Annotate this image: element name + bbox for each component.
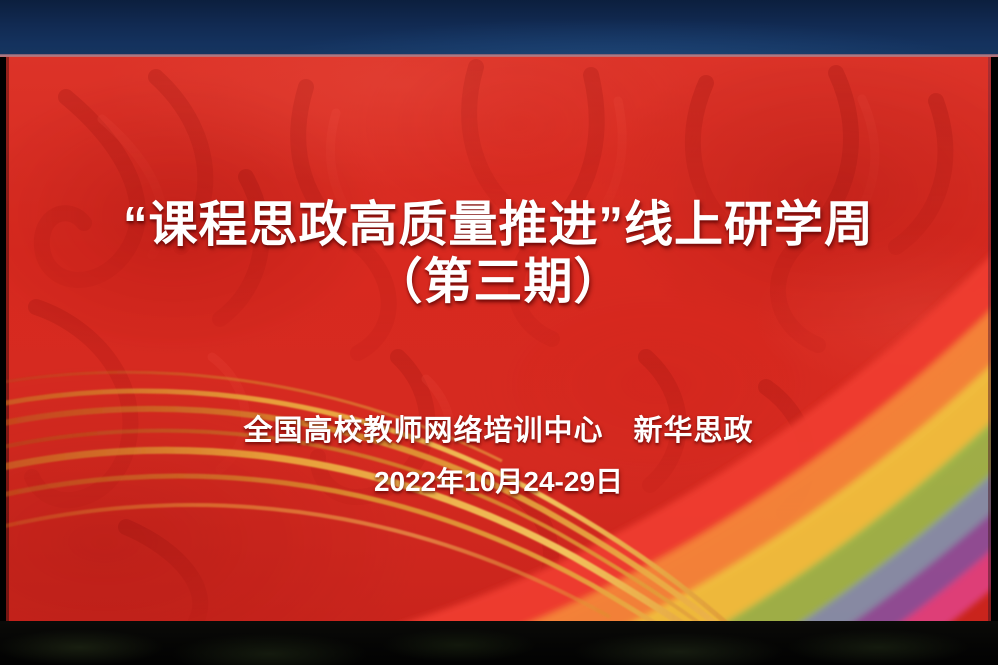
slide-stage: “课程思政高质量推进”线上研学周（第三期） 全国高校教师网络培训中心 新华思政 … [0, 0, 998, 665]
slide-date-range: 2022年10月24-29日 [6, 460, 991, 500]
slide-title-line2: （第三期） [373, 255, 623, 309]
slide-organizers: 全国高校教师网络培训中心 新华思政 [6, 407, 991, 449]
red-poster-panel: “课程思政高质量推进”线上研学周（第三期） 全国高校教师网络培训中心 新华思政 … [6, 57, 991, 621]
slide-text-layer: “课程思政高质量推进”线上研学周（第三期） 全国高校教师网络培训中心 新华思政 … [6, 57, 991, 621]
slide-title: “课程思政高质量推进”线上研学周（第三期） [6, 197, 991, 311]
poster-right-edge [988, 57, 991, 621]
slide-title-line1: “课程思政高质量推进”线上研学周 [123, 198, 874, 252]
bottom-dark-band [0, 621, 998, 665]
top-navy-band [0, 0, 998, 56]
